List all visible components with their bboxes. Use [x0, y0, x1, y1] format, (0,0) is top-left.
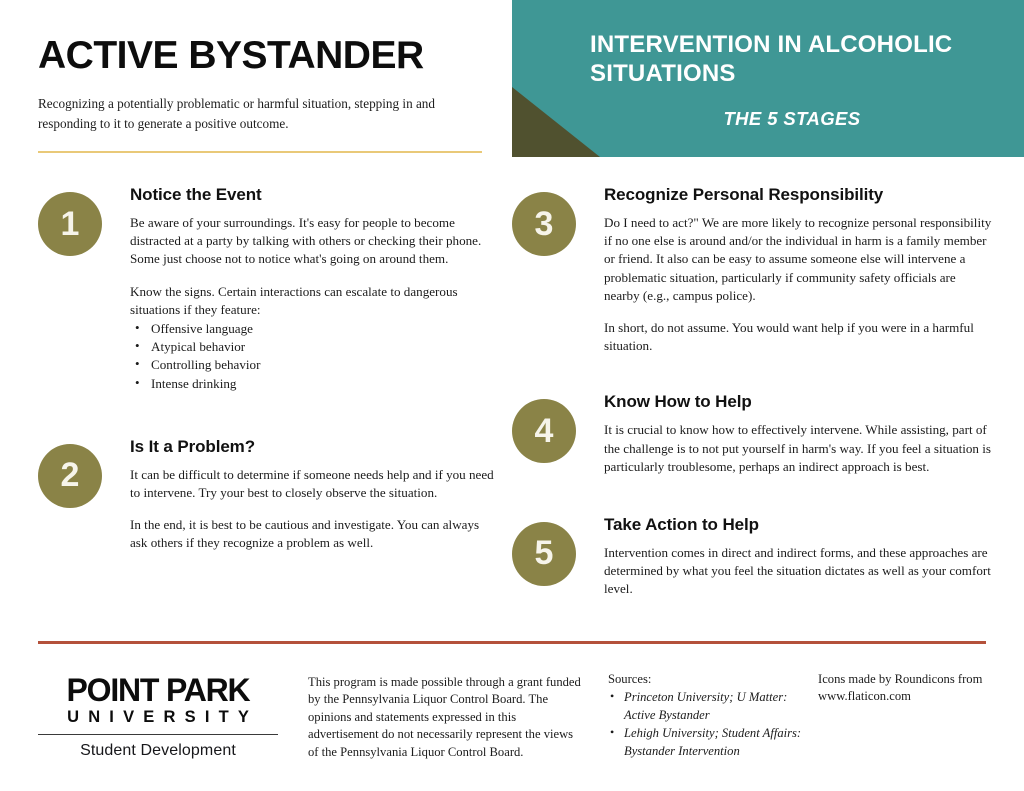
- step-title: Take Action to Help: [604, 515, 992, 535]
- step-bullet-list: Offensive language Atypical behavior Con…: [130, 320, 498, 393]
- list-item: Lehigh University; Student Affairs: Byst…: [608, 725, 808, 760]
- gold-divider: [38, 151, 482, 153]
- logo-wordmark: POINT PARK: [38, 674, 278, 706]
- step-text: It can be difficult to determine if some…: [130, 466, 498, 553]
- infographic-page: ACTIVE BYSTANDER Recognizing a potential…: [0, 0, 1024, 791]
- sources-heading: Sources:: [608, 671, 808, 688]
- step-number-badge: 4: [512, 399, 576, 463]
- step-item: 1 Notice the Event Be aware of your surr…: [38, 185, 498, 393]
- grant-disclaimer: This program is made possible through a …: [308, 674, 586, 761]
- step-item: 5 Take Action to Help Intervention comes…: [512, 515, 992, 599]
- step-title: Recognize Personal Responsibility: [604, 185, 992, 205]
- step-paragraph: Know the signs. Certain interactions can…: [130, 283, 498, 319]
- step-number-badge: 1: [38, 192, 102, 256]
- step-body: Know How to Help It is crucial to know h…: [604, 392, 992, 476]
- step-text: Do I need to act?" We are more likely to…: [604, 214, 992, 355]
- list-item: Princeton University; U Matter: Active B…: [608, 689, 808, 724]
- teal-banner: INTERVENTION IN ALCOHOLIC SITUATIONS THE…: [512, 0, 1024, 157]
- banner-subtitle: THE 5 STAGES: [590, 108, 994, 130]
- step-body: Notice the Event Be aware of your surrou…: [130, 185, 498, 393]
- step-body: Take Action to Help Intervention comes i…: [604, 515, 992, 599]
- orange-divider: [38, 641, 986, 644]
- banner-title: INTERVENTION IN ALCOHOLIC SITUATIONS: [590, 30, 1004, 89]
- step-paragraph: In the end, it is best to be cautious an…: [130, 516, 498, 552]
- step-number-badge: 2: [38, 444, 102, 508]
- page-title: ACTIVE BYSTANDER: [38, 36, 488, 77]
- step-title: Is It a Problem?: [130, 437, 498, 457]
- list-item: Offensive language: [130, 320, 498, 338]
- list-item: Atypical behavior: [130, 338, 498, 356]
- step-body: Is It a Problem? It can be difficult to …: [130, 437, 498, 553]
- step-text: It is crucial to know how to effectively…: [604, 421, 992, 476]
- step-text: Be aware of your surroundings. It's easy…: [130, 214, 498, 393]
- page-subtitle: Recognizing a potentially problematic or…: [38, 94, 488, 134]
- steps-column-right: 3 Recognize Personal Responsibility Do I…: [512, 185, 992, 598]
- logo-rule: [38, 734, 278, 735]
- step-number-badge: 5: [512, 522, 576, 586]
- olive-triangle-accent: [512, 87, 600, 157]
- step-item: 2 Is It a Problem? It can be difficult t…: [38, 437, 498, 553]
- logo-university-line: UNIVERSITY: [38, 706, 278, 728]
- step-title: Know How to Help: [604, 392, 992, 412]
- footer: POINT PARK UNIVERSITY Student Developmen…: [0, 660, 1024, 791]
- steps-column-left: 1 Notice the Event Be aware of your surr…: [38, 185, 498, 552]
- step-number-badge: 3: [512, 192, 576, 256]
- list-item: Intense drinking: [130, 375, 498, 393]
- sources-block: Sources: Princeton University; U Matter:…: [608, 671, 808, 761]
- list-item: Controlling behavior: [130, 356, 498, 374]
- step-paragraph: Do I need to act?" We are more likely to…: [604, 214, 992, 305]
- step-item: 3 Recognize Personal Responsibility Do I…: [512, 185, 992, 355]
- step-paragraph: Intervention comes in direct and indirec…: [604, 544, 992, 599]
- step-paragraph: In short, do not assume. You would want …: [604, 319, 992, 355]
- step-text: Intervention comes in direct and indirec…: [604, 544, 992, 599]
- step-paragraph: It can be difficult to determine if some…: [130, 466, 498, 502]
- header-left: ACTIVE BYSTANDER Recognizing a potential…: [38, 36, 488, 134]
- step-paragraph: It is crucial to know how to effectively…: [604, 421, 992, 476]
- icons-credit: Icons made by Roundicons from www.flatic…: [818, 671, 998, 706]
- step-paragraph: Be aware of your surroundings. It's easy…: [130, 214, 498, 269]
- point-park-logo: POINT PARK UNIVERSITY Student Developmen…: [38, 674, 278, 760]
- step-item: 4 Know How to Help It is crucial to know…: [512, 392, 992, 476]
- step-title: Notice the Event: [130, 185, 498, 205]
- step-body: Recognize Personal Responsibility Do I n…: [604, 185, 992, 355]
- sources-list: Princeton University; U Matter: Active B…: [608, 689, 808, 760]
- logo-department: Student Development: [38, 742, 278, 760]
